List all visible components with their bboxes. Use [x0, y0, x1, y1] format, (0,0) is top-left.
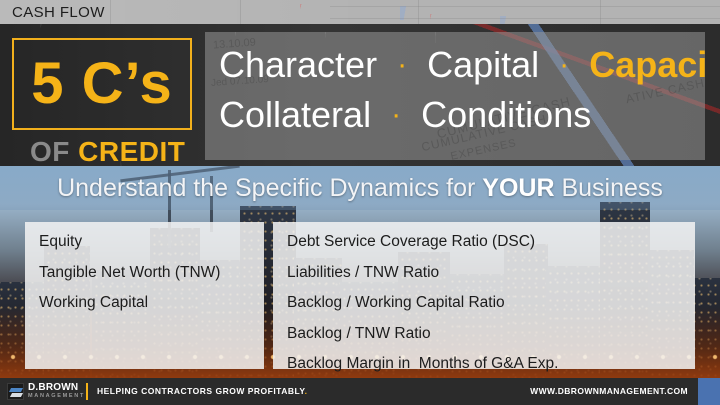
term-collateral: Collateral [219, 94, 371, 135]
topbar-grid-line [110, 0, 111, 24]
term-capital: Capital [427, 44, 539, 85]
list-item: Working Capital [39, 295, 250, 311]
terms-row-2: Collateral · Conditions [219, 94, 591, 136]
five-cs-terms-panel: 13.10.09 Jed 07.10.09 ATIVE CASH CUMULAT… [205, 32, 705, 160]
list-item: Tangible Net Worth (TNW) [39, 265, 250, 281]
headline-part-1: Understand the Specific Dynamics for [57, 174, 482, 202]
list-item: Liabilities / TNW Ratio [287, 265, 681, 281]
headline-part-2: Business [555, 174, 663, 202]
term-conditions: Conditions [421, 94, 591, 135]
topbar-grid-line [418, 0, 419, 24]
term-separator-icon: · [549, 48, 579, 81]
footer-tagline: HELPING CONTRACTORS GROW PROFITABLY. [97, 386, 308, 396]
topbar-grid-line [600, 0, 601, 24]
topbar-grid-line [330, 6, 720, 7]
list-item: Equity [39, 234, 250, 250]
list-item: Backlog / Working Capital Ratio [287, 295, 681, 311]
topbar-grid-line [240, 0, 241, 24]
logo-swoosh-white [10, 393, 23, 397]
company-subtitle: MANAGEMENT [28, 393, 85, 399]
slide-root: CASH FLOW 5 C’s OF CREDIT 13.10.09 Jed 0… [0, 0, 720, 405]
list-item: Backlog Margin in Months of G&A Exp. [287, 356, 681, 372]
footer-bar: D.BROWN MANAGEMENT HELPING CONTRACTORS G… [0, 378, 720, 405]
list-item: Debt Service Coverage Ratio (DSC) [287, 234, 681, 250]
five-cs-badge-box: 5 C’s [12, 38, 192, 130]
top-bar: CASH FLOW [0, 0, 720, 24]
right-metrics-panel: Debt Service Coverage Ratio (DSC) Liabil… [273, 222, 695, 369]
list-item: Backlog / TNW Ratio [287, 326, 681, 342]
company-name: D.BROWN [28, 382, 78, 393]
logo-swoosh-blue [9, 388, 23, 392]
credit-word: CREDIT [78, 136, 185, 166]
hero-band: 5 C’s OF CREDIT 13.10.09 Jed 07.10.09 AT… [0, 24, 720, 166]
headline-banner: Understand the Specific Dynamics for YOU… [0, 166, 720, 210]
terms-row-1: Character · Capital · Capacity [219, 44, 705, 86]
footer-tagline-text: HELPING CONTRACTORS GROW PROFITABLY [97, 386, 305, 396]
five-cs-badge-label: 5 C’s [31, 55, 172, 113]
topbar-title: CASH FLOW [12, 4, 105, 21]
topbar-background-chart-image [0, 0, 720, 24]
term-capacity: Capacity [589, 44, 705, 85]
term-separator-icon: · [387, 48, 417, 81]
footer-tagline-period: . [305, 386, 308, 396]
footer-accent-block [698, 378, 720, 405]
headline-text: Understand the Specific Dynamics for YOU… [57, 174, 663, 203]
term-character: Character [219, 44, 377, 85]
left-metrics-panel: Equity Tangible Net Worth (TNW) Working … [25, 222, 264, 369]
footer-divider [86, 383, 88, 400]
term-separator-icon: · [381, 98, 411, 131]
headline-emphasis: YOUR [482, 174, 554, 202]
company-logo-icon [7, 383, 24, 400]
footer-website-url[interactable]: WWW.DBROWNMANAGEMENT.COM [530, 386, 688, 396]
topbar-grid-line [330, 18, 720, 19]
of-word: OF [30, 136, 70, 166]
of-credit-label: OF CREDIT [30, 136, 185, 166]
